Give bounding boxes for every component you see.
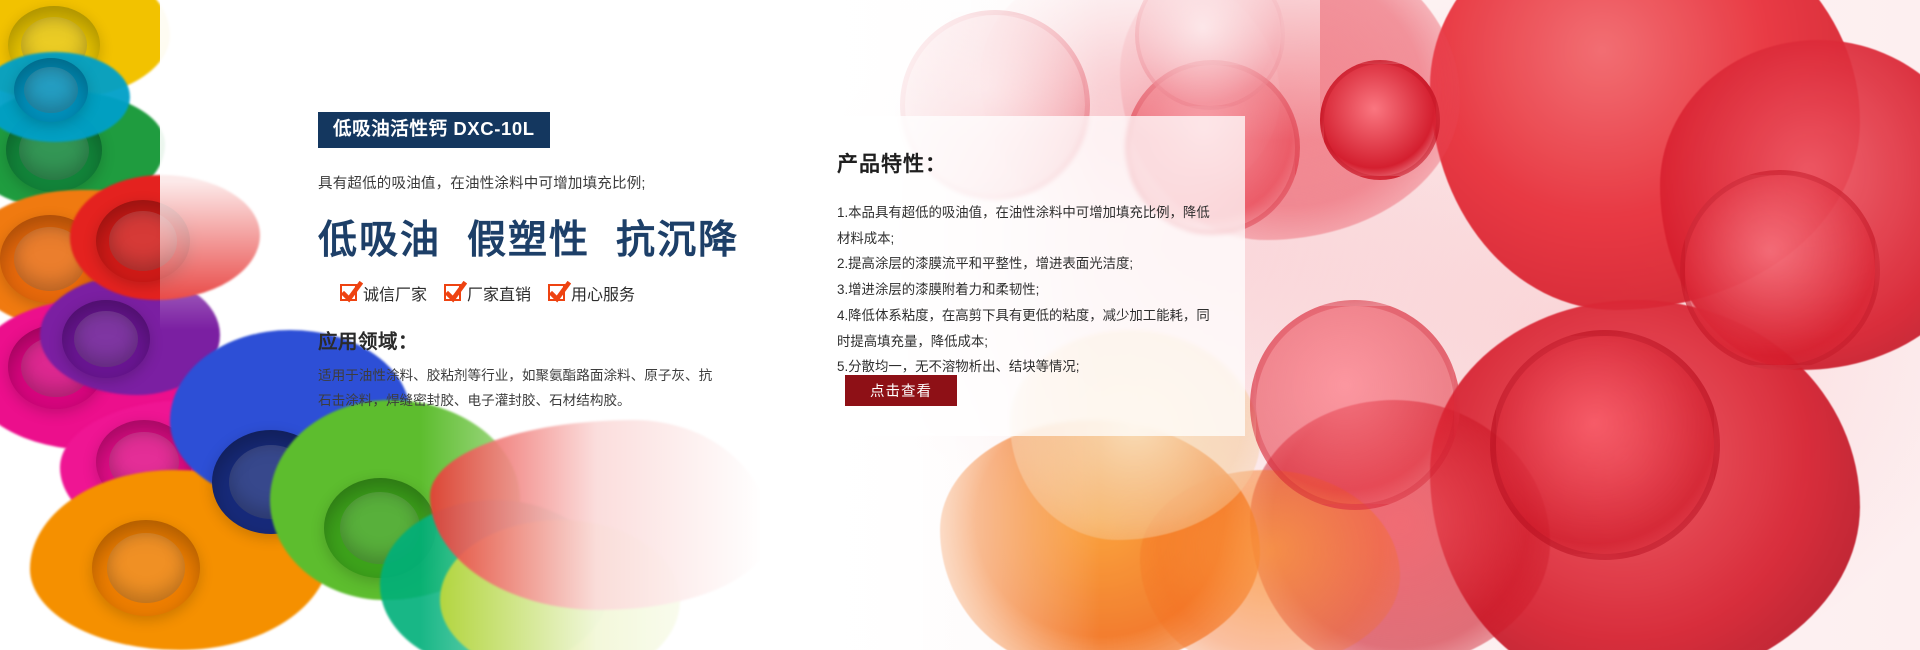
panel-feature-list: 1.本品具有超低的吸油值，在油性涂料中可增加填充比例，降低材料成本; 2.提高涂…	[837, 200, 1215, 380]
application-heading: 应用领域：	[318, 325, 738, 354]
list-item: 3.增进涂层的漆膜附着力和柔韧性;	[837, 277, 1215, 303]
application-body-text: 适用于油性涂料、胶粘剂等行业，如聚氨酯路面涂料、原子灰、抗石击涂料，焊缝密封胶、…	[318, 363, 718, 413]
panel-heading: 产品特性：	[837, 148, 1215, 178]
product-subtitle: 具有超低的吸油值，在油性涂料中可增加填充比例;	[318, 172, 738, 193]
trust-feature-label: 诚信厂家	[363, 281, 427, 305]
headline-keywords: 低吸油假塑性抗沉降	[318, 209, 738, 265]
promo-banner: 低吸油活性钙 DXC-10L 具有超低的吸油值，在油性涂料中可增加填充比例; 低…	[0, 0, 1920, 650]
check-box-icon	[340, 284, 357, 301]
list-item: 2.提高涂层的漆膜流平和平整性，增进表面光洁度;	[837, 251, 1215, 277]
trust-features-row: 诚信厂家 厂家直销 用心服务	[340, 281, 738, 305]
trust-feature-1: 诚信厂家	[340, 281, 427, 305]
headline-word-3: 抗沉降	[616, 219, 739, 262]
trust-feature-label: 厂家直销	[467, 281, 531, 305]
product-title-badge: 低吸油活性钙 DXC-10L	[318, 112, 550, 148]
left-content-block: 低吸油活性钙 DXC-10L 具有超低的吸油值，在油性涂料中可增加填充比例; 低…	[318, 112, 738, 413]
list-item: 1.本品具有超低的吸油值，在油性涂料中可增加填充比例，降低材料成本;	[837, 200, 1215, 251]
view-details-button[interactable]: 点击查看	[845, 375, 957, 406]
check-box-icon	[548, 284, 565, 301]
trust-feature-label: 用心服务	[571, 281, 635, 305]
check-box-icon	[444, 284, 461, 301]
trust-feature-3: 用心服务	[548, 281, 635, 305]
headline-word-2: 假塑性	[467, 219, 590, 262]
headline-word-1: 低吸油	[318, 219, 441, 262]
list-item: 4.降低体系粘度，在高剪下具有更低的粘度，减少加工能耗，同时提高填充量，降低成本…	[837, 303, 1215, 354]
trust-feature-2: 厂家直销	[444, 281, 531, 305]
